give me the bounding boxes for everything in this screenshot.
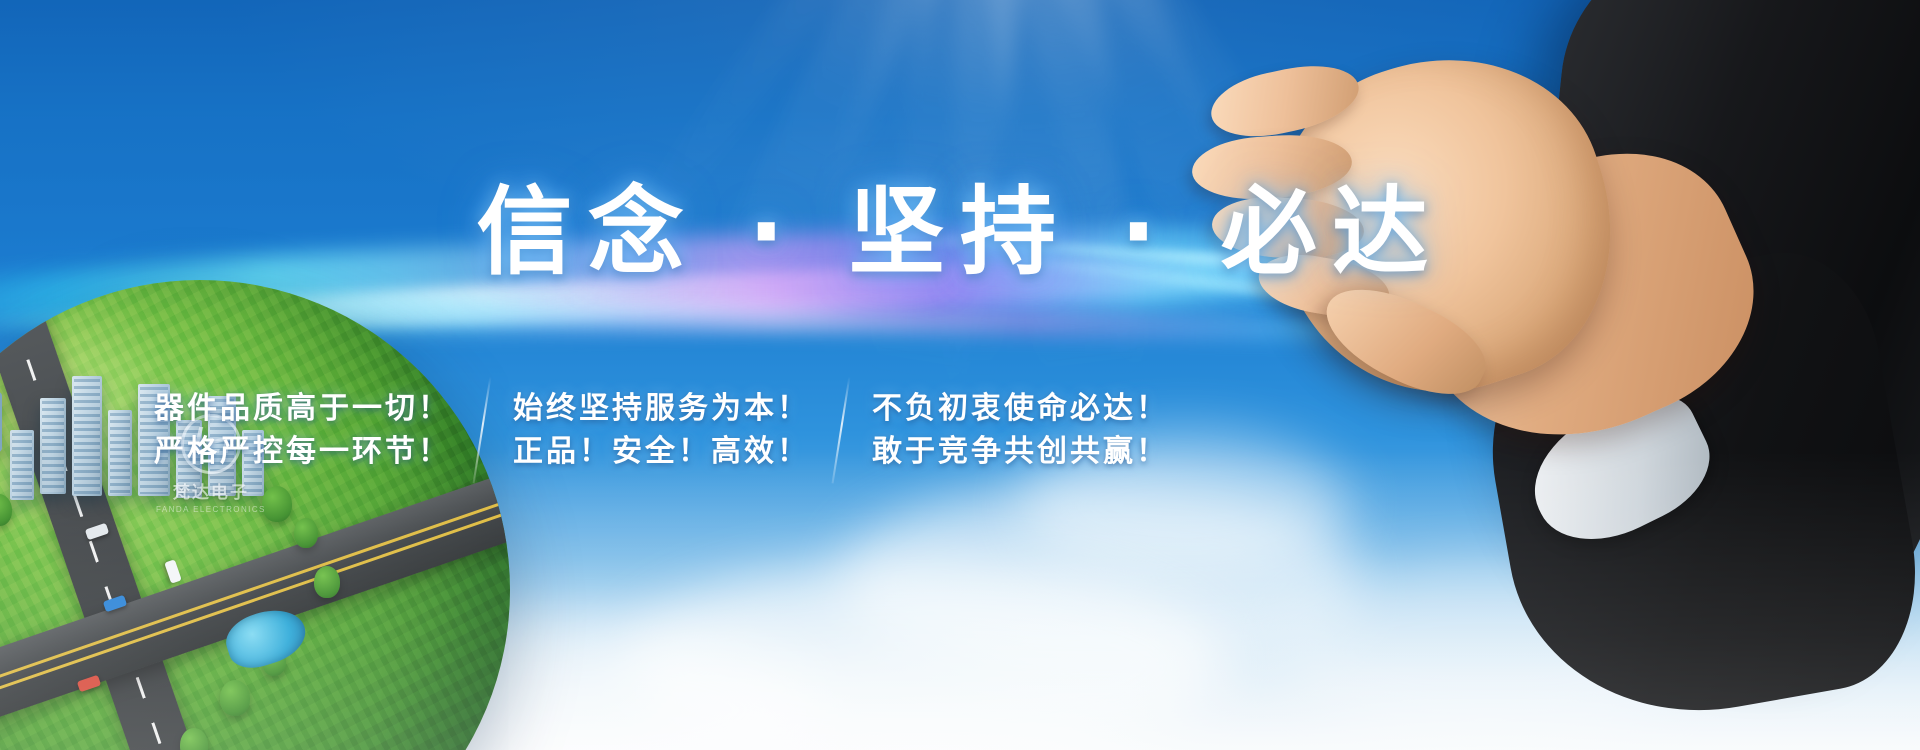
slogan-divider-1 [473, 377, 492, 484]
green-globe-city-illustration [0, 280, 510, 750]
slogan-row: 器件品质高于一切！ 严格严控每一环节！ 始终坚持服务为本！ 正品！安全！高效！ … [140, 375, 1340, 485]
slogan-column-2: 始终坚持服务为本！ 正品！安全！高效！ [513, 387, 810, 474]
slogan-column-1: 器件品质高于一切！ 严格严控每一环节！ [154, 387, 451, 474]
slogan-3-line-1: 不负初衷使命必达！ [872, 387, 1169, 431]
slogan-1-line-1: 器件品质高于一切！ [154, 387, 451, 431]
promo-banner: 梵达电子 FANDA ELECTRONICS 信念 · 坚持 · 必达 器件品质… [0, 0, 1920, 750]
slogan-2-line-2: 正品！安全！高效！ [513, 430, 810, 474]
slogan-1-line-2: 严格严控每一环节！ [154, 430, 451, 474]
slogan-column-3: 不负初衷使命必达！ 敢于竞争共创共赢！ [872, 387, 1169, 474]
slogan-divider-2 [832, 377, 851, 484]
logo-subtitle: FANDA ELECTRONICS [156, 505, 266, 514]
slogan-2-line-1: 始终坚持服务为本！ [513, 387, 810, 431]
slogan-3-line-2: 敢于竞争共创共赢！ [872, 430, 1169, 474]
road-sign [0, 392, 2, 452]
